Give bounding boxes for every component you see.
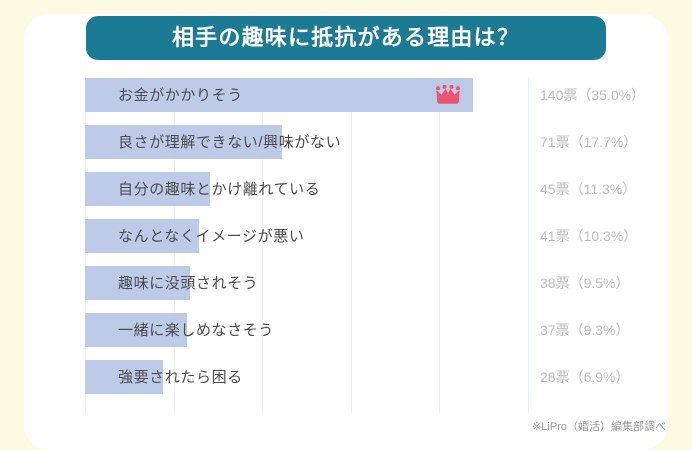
chart-row: 良さが理解できない/興味がない71票（17.7%）	[85, 125, 528, 159]
chart-row: 自分の趣味とかけ離れている45票（11.3%）	[85, 172, 528, 206]
source-attribution: ※LiPro（婚活）編集部調べ	[532, 418, 666, 434]
page-title: 相手の趣味に抵抗がある理由は？	[172, 27, 520, 49]
bar-value-label: 41票（10.3%）	[540, 219, 637, 253]
bar-category-label: 自分の趣味とかけ離れている	[118, 172, 320, 206]
bar-value-label: 38票（9.5%）	[540, 266, 629, 300]
chart-title-banner: 相手の趣味に抵抗がある理由は？	[86, 16, 606, 60]
chart-bar-rows: お金がかかりそう140票（35.0%）良さが理解できない/興味がない71票（17…	[85, 78, 528, 414]
chart-row: なんとなくイメージが悪い41票（10.3%）	[85, 219, 528, 253]
gridline	[528, 78, 529, 414]
chart-row: 強要されたら困る28票（6.9%）	[85, 360, 528, 394]
bar-value-label: 140票（35.0%）	[540, 78, 645, 112]
bar-value-label: 45票（11.3%）	[540, 172, 636, 206]
bar-category-label: お金がかかりそう	[118, 78, 243, 112]
bar-value-label: 37票（9.3%）	[540, 313, 629, 347]
bar-category-label: 趣味に没頭されそう	[118, 266, 258, 300]
bar-category-label: 一緒に楽しめなさそう	[118, 313, 274, 347]
chart-row: 趣味に没頭されそう38票（9.5%）	[85, 266, 528, 300]
chart-plot-area: お金がかかりそう140票（35.0%）良さが理解できない/興味がない71票（17…	[85, 78, 528, 414]
chart-row: 一緒に楽しめなさそう37票（9.3%）	[85, 313, 528, 347]
chart-infographic: 相手の趣味に抵抗がある理由は？ お金がかかりそう140票（35.0%）良さが理解…	[0, 0, 692, 450]
chart-row: お金がかかりそう140票（35.0%）	[85, 78, 528, 112]
bar-value-label: 28票（6.9%）	[540, 360, 629, 394]
crown-icon	[435, 85, 461, 105]
bar-value-label: 71票（17.7%）	[540, 125, 637, 159]
bar-category-label: 強要されたら困る	[118, 360, 243, 394]
bar-category-label: 良さが理解できない/興味がない	[118, 125, 341, 159]
bar-category-label: なんとなくイメージが悪い	[118, 219, 304, 253]
